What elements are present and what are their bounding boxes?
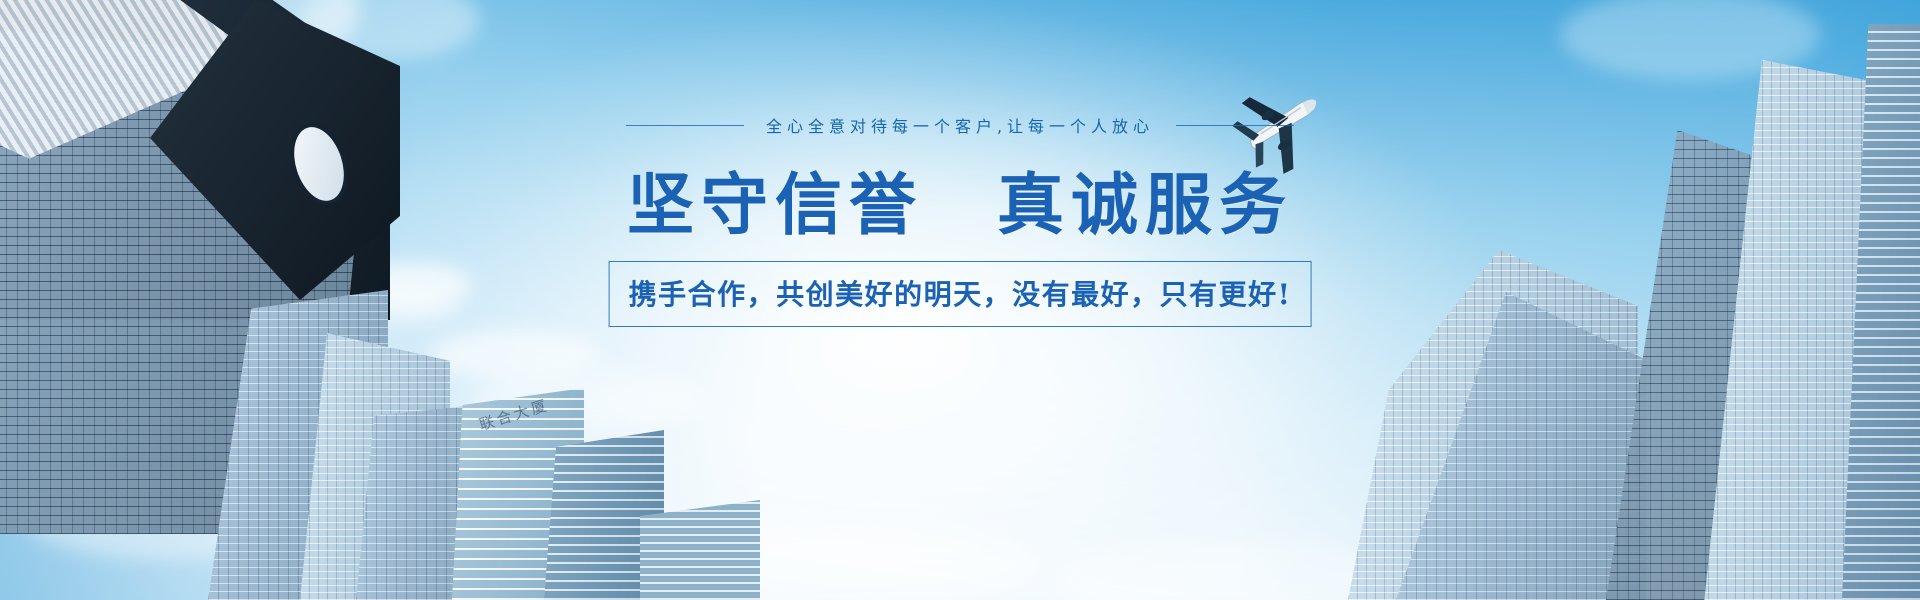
subtitle-text: 携手合作，共创美好的明天，没有最好，只有更好! (629, 278, 1292, 311)
tagline-row: 全心全意对待每一个客户,让每一个人放心 (626, 113, 1294, 137)
tagline-text: 全心全意对待每一个客户,让每一个人放心 (766, 113, 1154, 137)
left-rule-icon (626, 125, 744, 126)
page-title: 坚守信誉 真诚服务 (627, 165, 1293, 244)
subtitle-box: 携手合作，共创美好的明天，没有最好，只有更好! (609, 261, 1312, 327)
right-rule-icon (1176, 125, 1294, 126)
hero-text-block: 全心全意对待每一个客户,让每一个人放心 坚守信誉 真诚服务 携手合作，共创美好的… (0, 0, 1920, 600)
hero-banner: 联合大厦 (0, 0, 1920, 600)
